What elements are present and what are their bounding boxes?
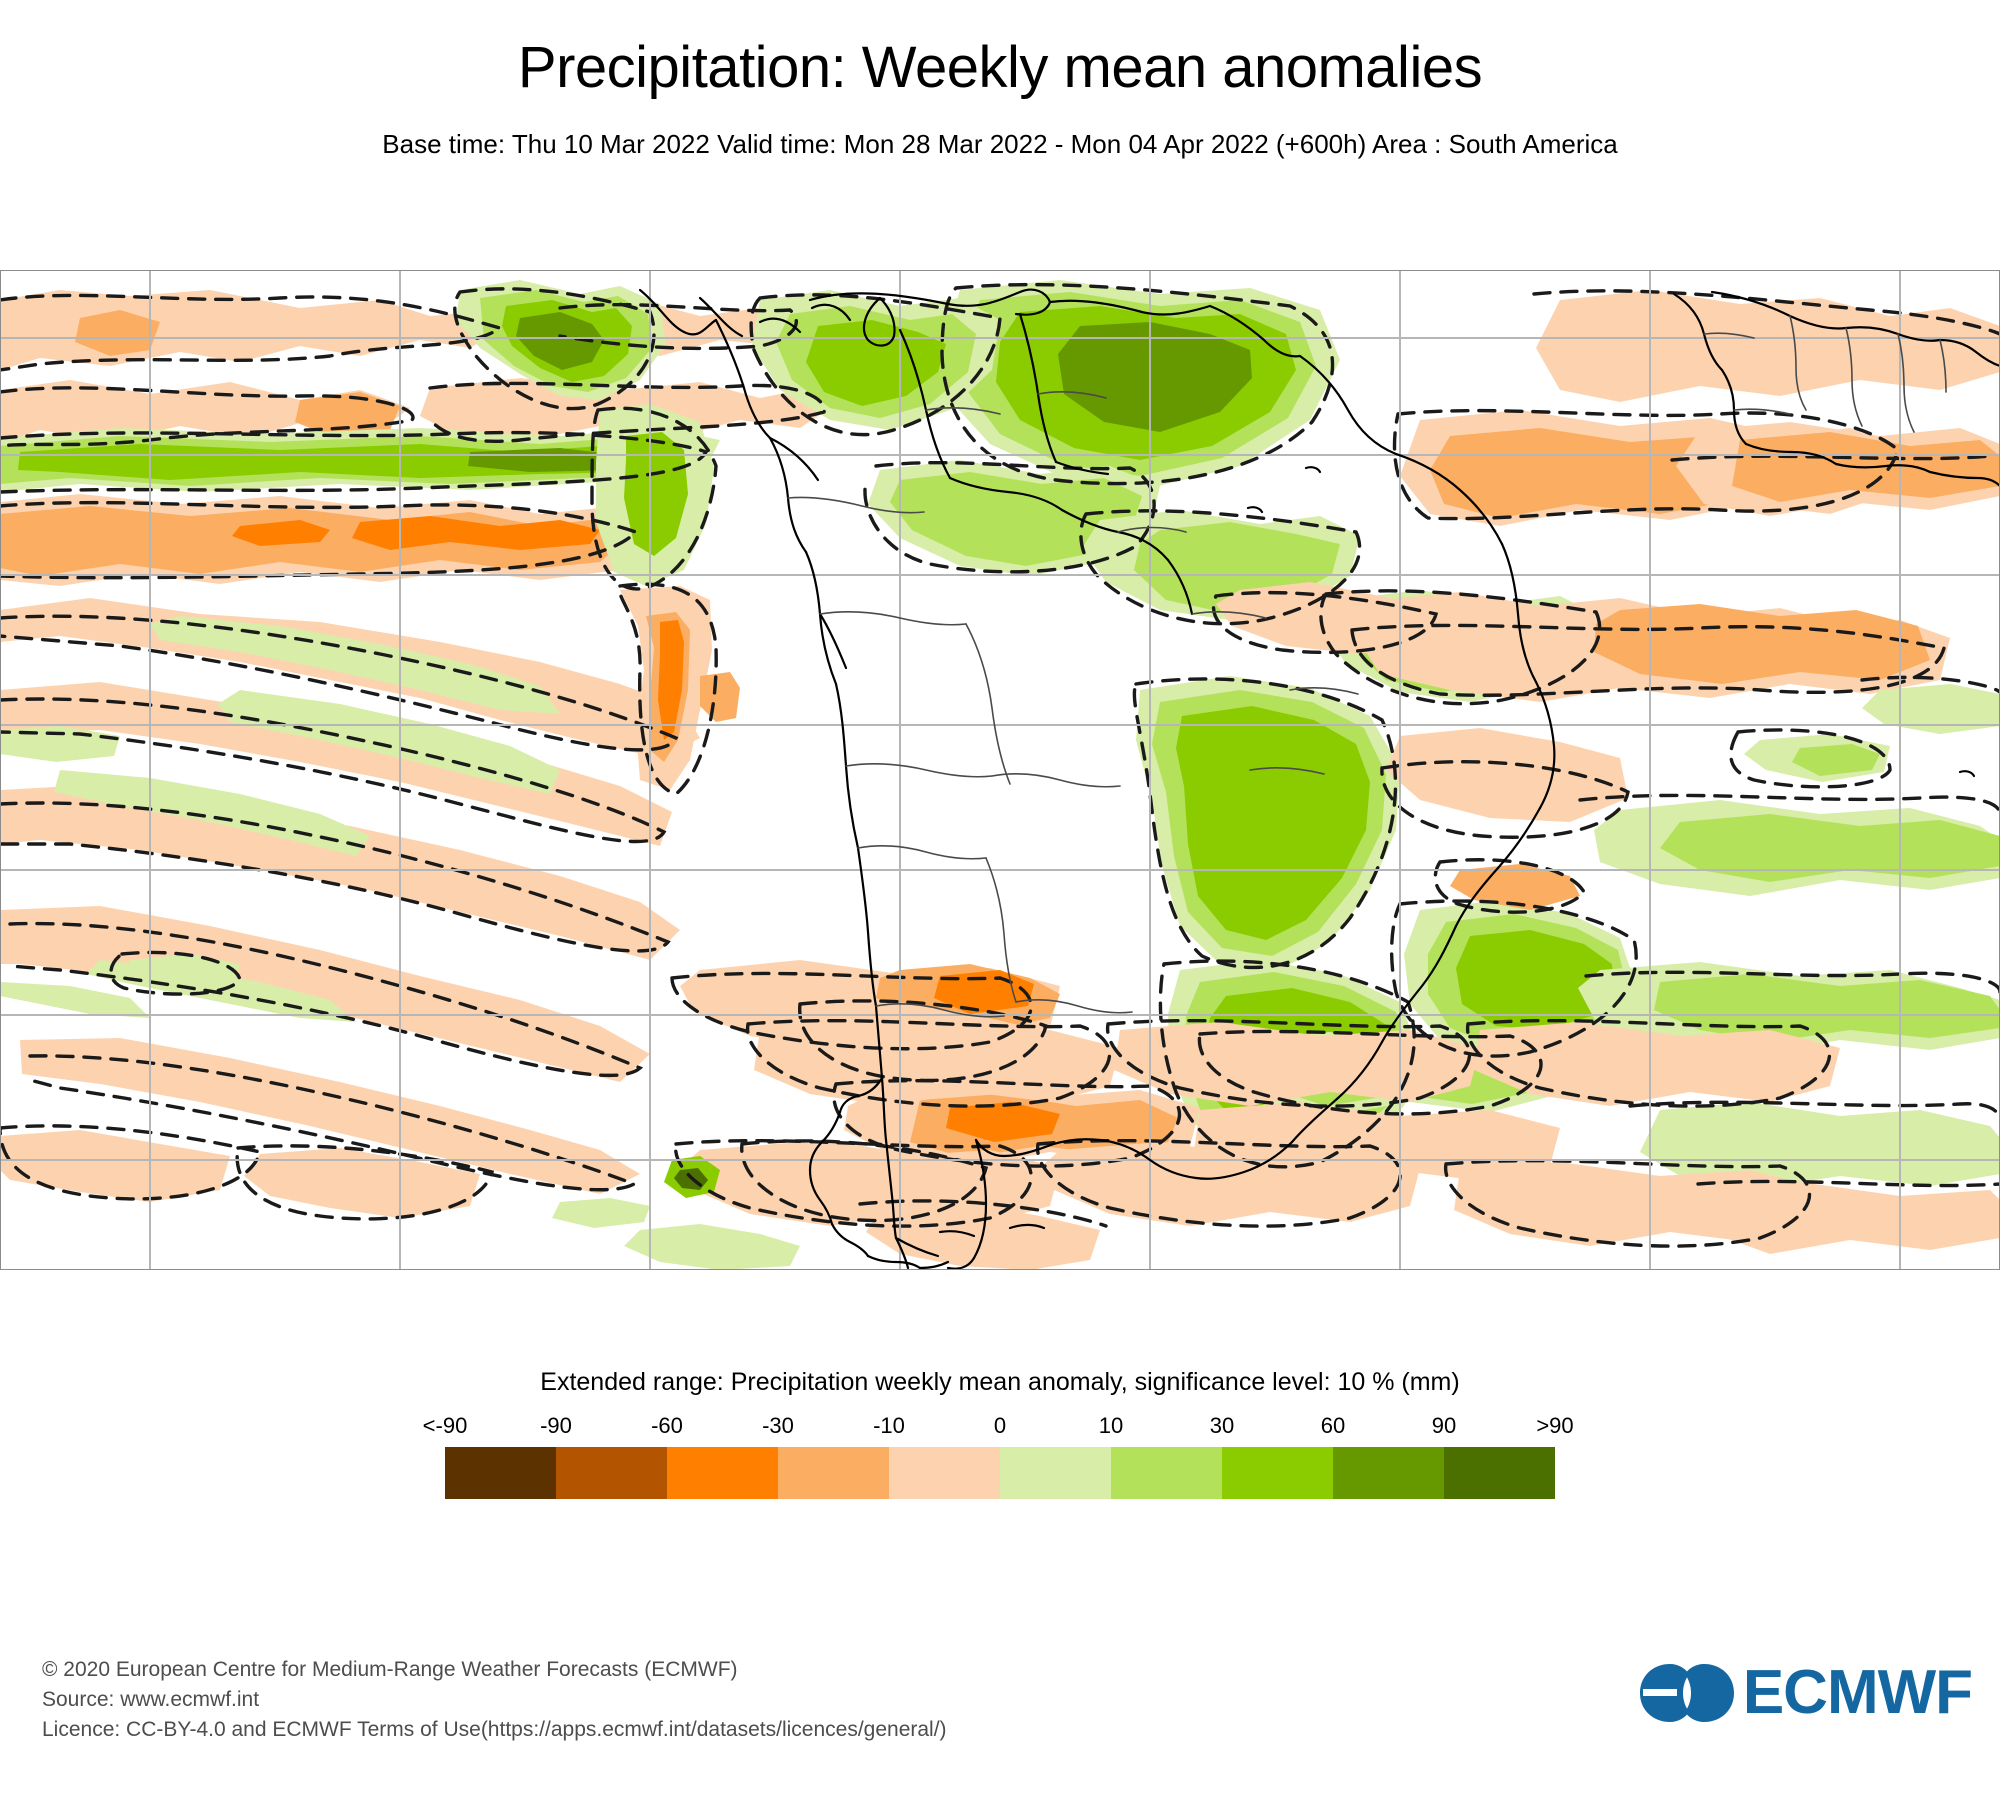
ecmwf-logo-text: ECMWF <box>1743 1662 1972 1724</box>
shade-neg-light <box>1474 1022 1840 1106</box>
licence-line: Licence: CC-BY-4.0 and ECMWF Terms of Us… <box>42 1715 947 1745</box>
shade-pos-mid <box>1660 814 2000 882</box>
ecmwf-globe-icon <box>1637 1660 1737 1726</box>
legend-swatch-7 <box>1222 1447 1333 1499</box>
copyright-line: © 2020 European Centre for Medium-Range … <box>42 1655 947 1685</box>
legend-swatch-2 <box>667 1447 778 1499</box>
legend-tick-7: 30 <box>1210 1413 1234 1439</box>
legend-swatch-8 <box>1333 1447 1444 1499</box>
legend-swatch-3 <box>778 1447 889 1499</box>
legend-tick-3: -30 <box>762 1413 794 1439</box>
legend-tick-1: -90 <box>540 1413 572 1439</box>
legend-tick-0: <-90 <box>423 1413 468 1439</box>
legend-tick-8: 60 <box>1321 1413 1345 1439</box>
legend-color-bar <box>445 1447 1555 1499</box>
legend-swatch-0 <box>445 1447 556 1499</box>
colorbar-legend: Extended range: Precipitation weekly mea… <box>0 1368 2000 1499</box>
legend-tick-9: 90 <box>1432 1413 1456 1439</box>
legend-tick-labels: <-90-90-60-30-10010306090>90 <box>445 1413 1555 1439</box>
legend-tick-6: 10 <box>1099 1413 1123 1439</box>
page-subtitle: Base time: Thu 10 Mar 2022 Valid time: M… <box>0 101 2000 160</box>
page-title: Precipitation: Weekly mean anomalies <box>0 0 2000 101</box>
legend-swatch-1 <box>556 1447 667 1499</box>
legend-tick-2: -60 <box>651 1413 683 1439</box>
legend-tick-10: >90 <box>1536 1413 1573 1439</box>
legend-swatch-4 <box>889 1447 1000 1499</box>
precipitation-anomaly-map <box>0 270 2000 1270</box>
legend-swatch-6 <box>1111 1447 1222 1499</box>
legend-swatch-9 <box>1444 1447 1555 1499</box>
legend-title: Extended range: Precipitation weekly mea… <box>0 1368 2000 1397</box>
source-line: Source: www.ecmwf.int <box>42 1685 947 1715</box>
legend-tick-4: -10 <box>873 1413 905 1439</box>
legend-swatch-5 <box>1000 1447 1111 1499</box>
footer-credits: © 2020 European Centre for Medium-Range … <box>42 1655 947 1745</box>
ecmwf-logo: ECMWF <box>1637 1660 1972 1726</box>
legend-tick-5: 0 <box>994 1413 1006 1439</box>
